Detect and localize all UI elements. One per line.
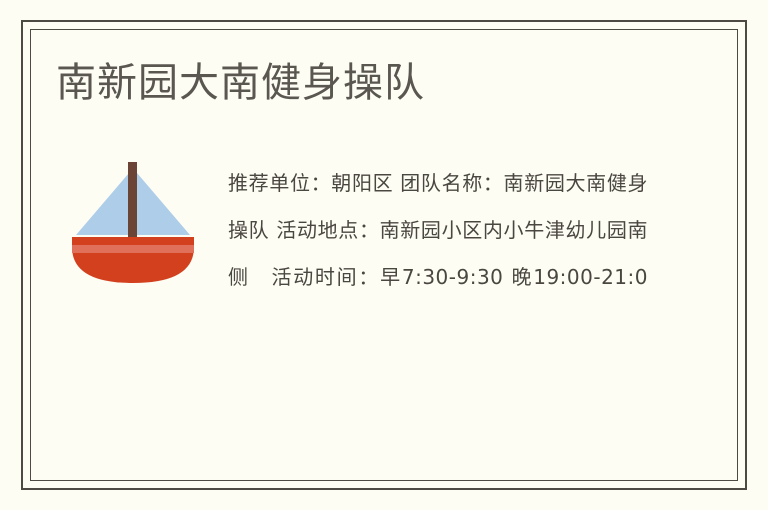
team-details-text: 推荐单位：朝阳区 团队名称：南新园大南健身操队 活动地点：南新园小区内小牛津幼儿… bbox=[228, 160, 648, 301]
info-card: 南新园大南健身操队 推荐单位：朝阳区 团队名称：南新园大南健身操队 活动地点：南… bbox=[0, 0, 768, 510]
sailboat-icon bbox=[66, 155, 200, 291]
page-title: 南新园大南健身操队 bbox=[56, 57, 425, 109]
